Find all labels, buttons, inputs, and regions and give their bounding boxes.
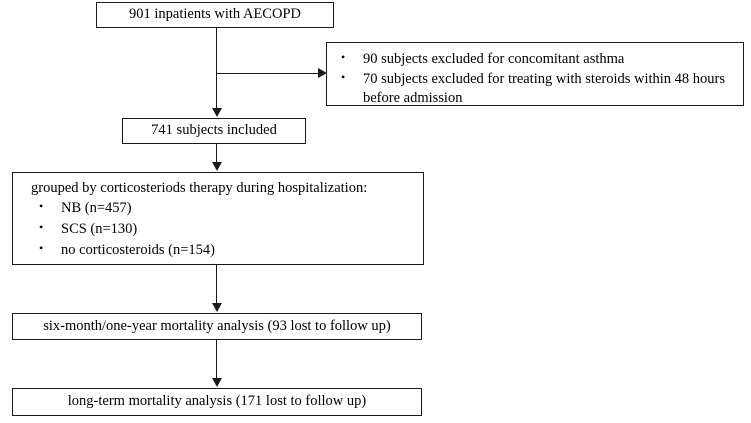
node-initial-cohort-label: 901 inpatients with AECOPD — [129, 5, 301, 25]
treatment-grouping-heading: grouped by corticosteriods therapy durin… — [31, 179, 413, 198]
connector-branch-to-excluded-line — [216, 73, 320, 74]
flowchart-canvas: 901 inpatients with AECOPD 90 subjects e… — [0, 0, 751, 423]
node-treatment-grouping: grouped by corticosteriods therapy durin… — [12, 172, 424, 265]
list-item: 70 subjects excluded for treating with s… — [337, 70, 735, 108]
node-initial-cohort: 901 inpatients with AECOPD — [96, 2, 334, 28]
connector-grouped-to-sixmonth-arrowhead — [212, 303, 222, 312]
connector-cohort-to-included-line — [216, 28, 217, 109]
connector-included-to-grouped-arrowhead — [212, 162, 222, 171]
connector-sixmonth-to-longterm-line — [216, 340, 217, 379]
list-item: SCS (n=130) — [27, 220, 413, 239]
connector-included-to-grouped-line — [216, 144, 217, 163]
connector-cohort-to-included-arrowhead — [212, 108, 222, 117]
list-item: NB (n=457) — [27, 199, 413, 218]
node-included-subjects-label: 741 subjects included — [151, 121, 277, 141]
node-longterm-mortality: long-term mortality analysis (171 lost t… — [12, 388, 422, 416]
connector-grouped-to-sixmonth-line — [216, 265, 217, 304]
node-longterm-mortality-label: long-term mortality analysis (171 lost t… — [68, 392, 366, 412]
treatment-group-list: NB (n=457) SCS (n=130) no corticosteroid… — [27, 199, 413, 260]
exclusion-list: 90 subjects excluded for concomitant ast… — [337, 50, 735, 108]
node-sixmonth-oneyear-mortality: six-month/one-year mortality analysis (9… — [12, 313, 422, 340]
list-item: 90 subjects excluded for concomitant ast… — [337, 50, 735, 69]
node-included-subjects: 741 subjects included — [122, 118, 306, 144]
node-exclusions: 90 subjects excluded for concomitant ast… — [326, 42, 744, 106]
node-sixmonth-oneyear-mortality-label: six-month/one-year mortality analysis (9… — [43, 317, 391, 337]
connector-sixmonth-to-longterm-arrowhead — [212, 378, 222, 387]
list-item: no corticosteroids (n=154) — [27, 241, 413, 260]
